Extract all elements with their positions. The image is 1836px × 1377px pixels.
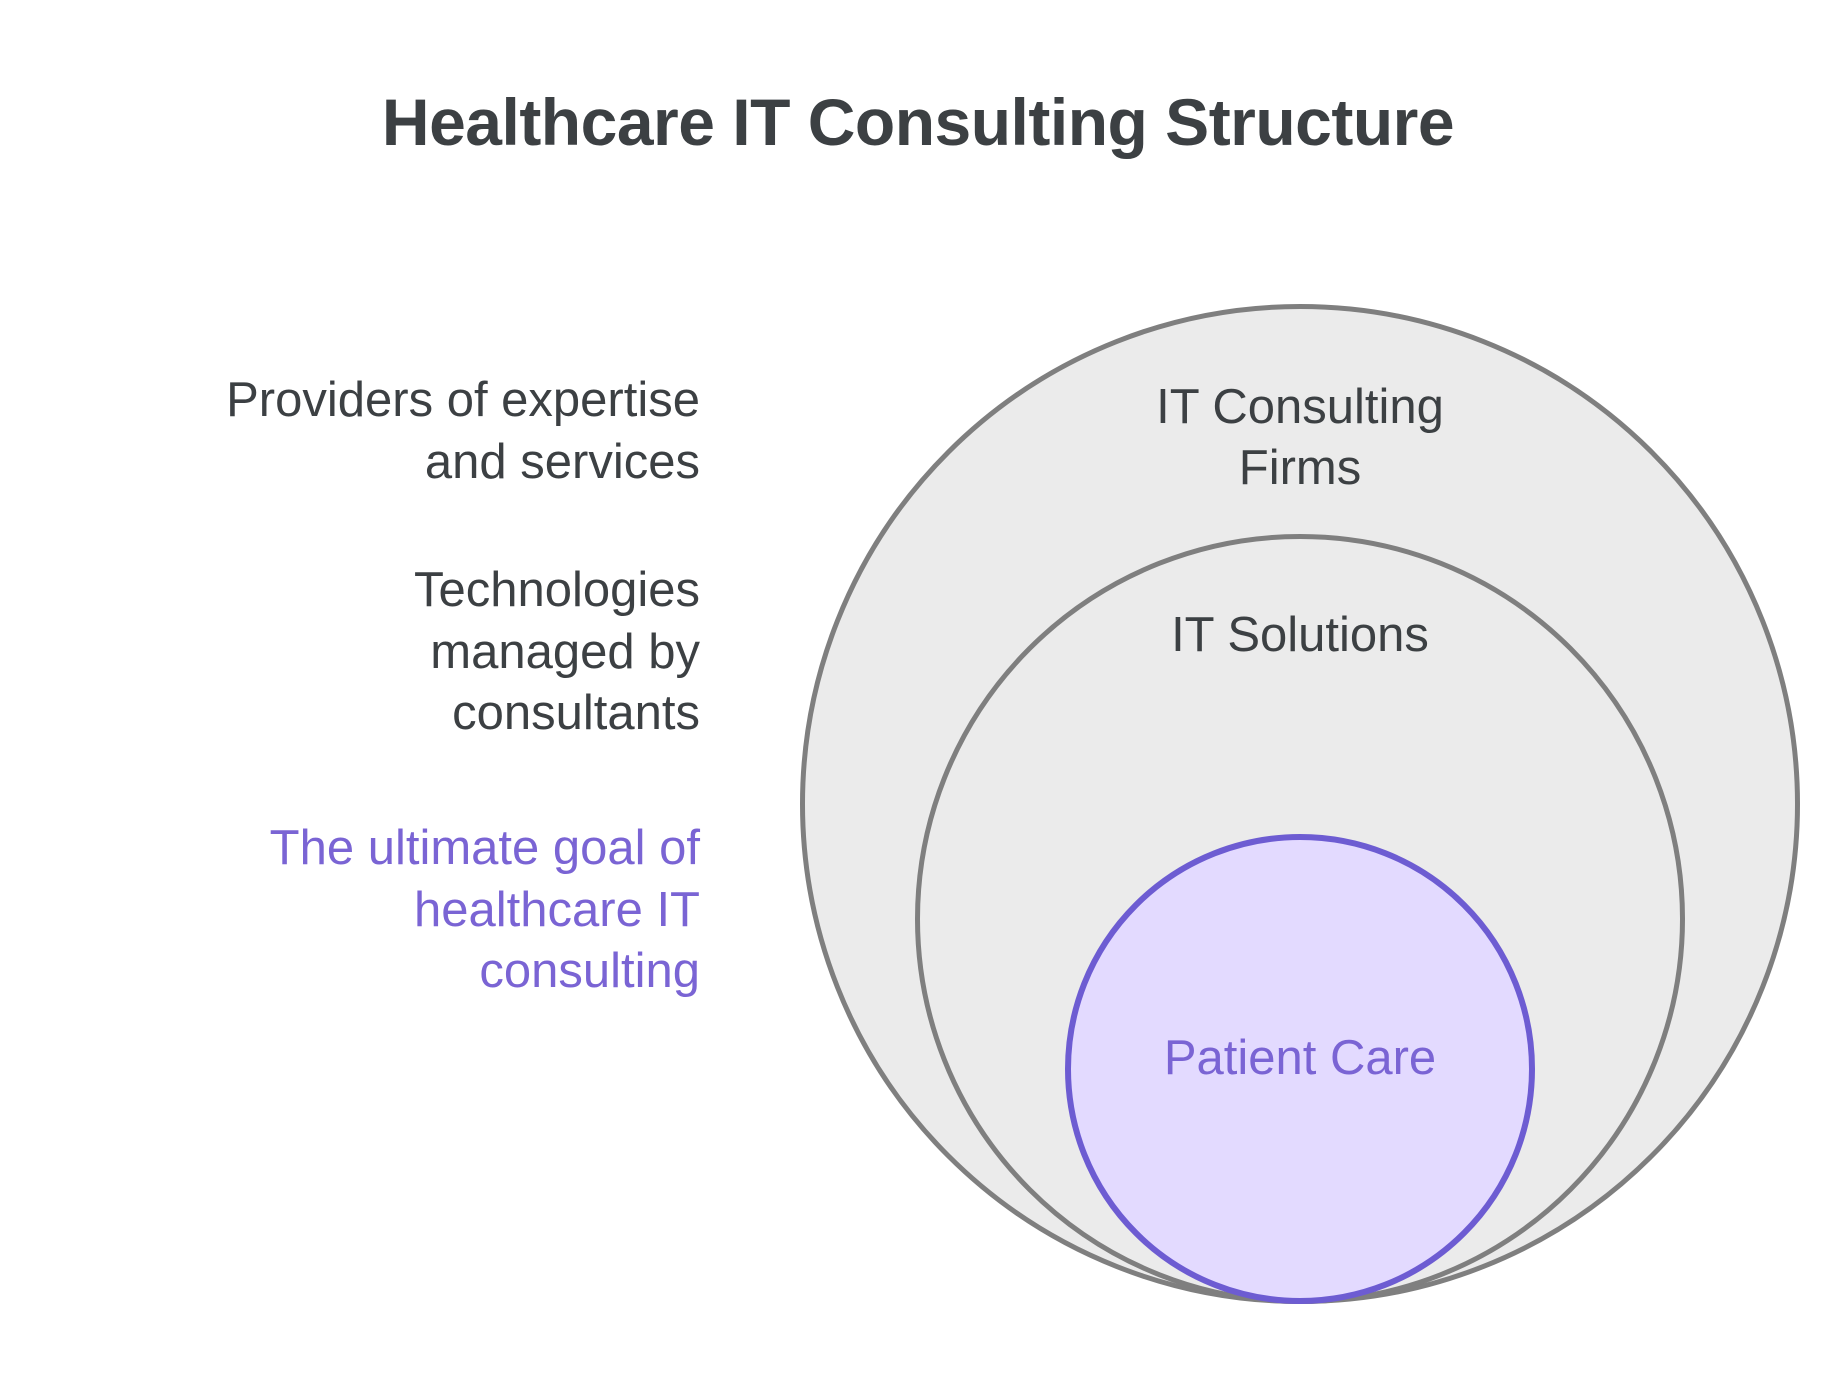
caption-technologies: Technologies managed by consultants xyxy=(60,560,700,745)
circle-label-it-solutions: IT Solutions xyxy=(920,605,1680,666)
caption-technologies-line-2: managed by xyxy=(60,622,700,684)
page-title: Healthcare IT Consulting Structure xyxy=(0,86,1836,159)
caption-providers-line-1: Providers of expertise xyxy=(60,370,700,432)
circle-label-it-consulting-firms: IT Consulting Firms xyxy=(805,377,1795,500)
nested-circles-diagram: IT Consulting Firms IT Solutions Patient… xyxy=(760,280,1770,1300)
circle-label-outer-line-1: IT Consulting xyxy=(805,377,1795,438)
caption-providers: Providers of expertise and services xyxy=(60,370,700,493)
caption-technologies-line-3: consultants xyxy=(60,683,700,745)
caption-providers-line-2: and services xyxy=(60,432,700,494)
circle-label-patient-care: Patient Care xyxy=(1071,1028,1529,1089)
caption-technologies-line-1: Technologies xyxy=(60,560,700,622)
circle-patient-care: Patient Care xyxy=(1065,834,1535,1304)
caption-ultimate-goal-line-2: healthcare IT xyxy=(60,880,700,942)
caption-ultimate-goal-line-3: consulting xyxy=(60,941,700,1003)
circle-label-middle-line-1: IT Solutions xyxy=(920,605,1680,666)
circle-label-inner-line-1: Patient Care xyxy=(1071,1028,1529,1089)
diagram-canvas: Healthcare IT Consulting Structure Provi… xyxy=(0,0,1836,1377)
caption-ultimate-goal: The ultimate goal of healthcare IT consu… xyxy=(60,818,700,1003)
circle-label-outer-line-2: Firms xyxy=(805,438,1795,499)
caption-ultimate-goal-line-1: The ultimate goal of xyxy=(60,818,700,880)
